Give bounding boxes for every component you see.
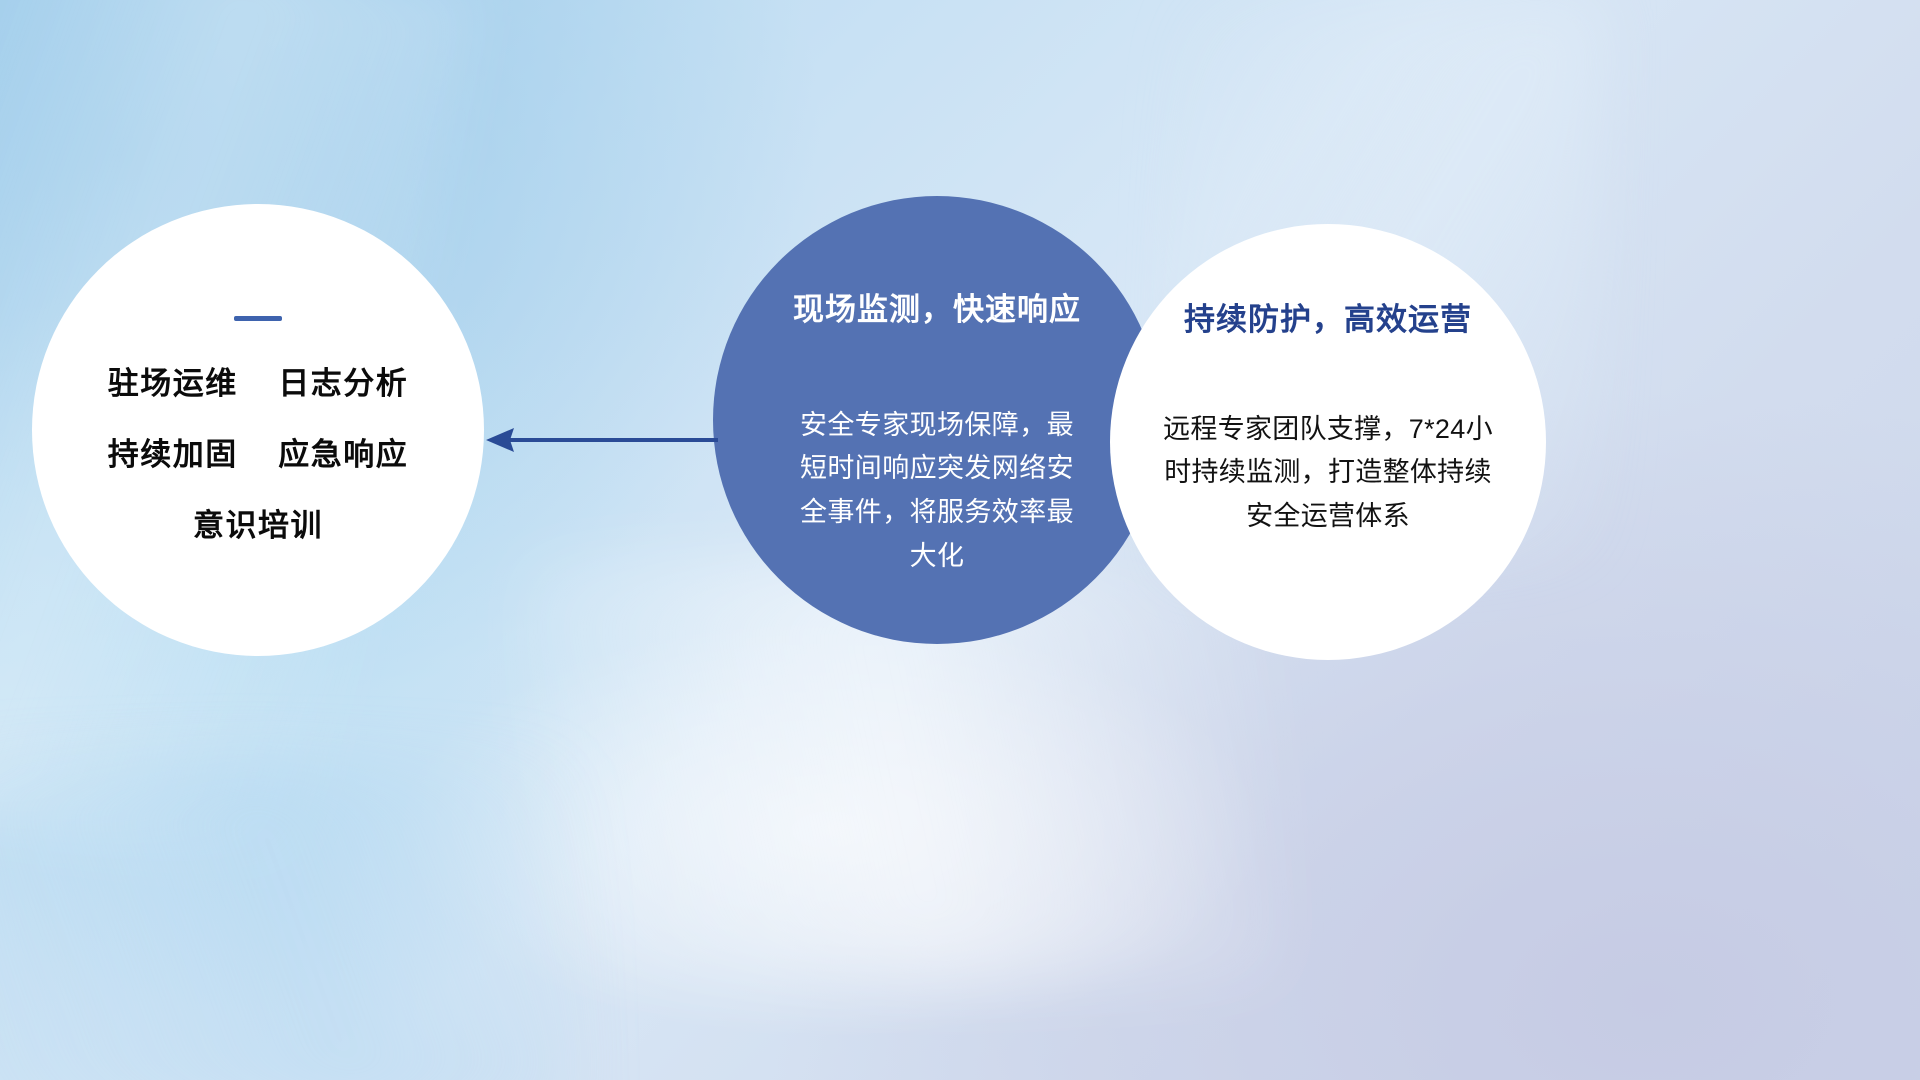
circle-continuous-protection[interactable]: 持续防护，高效运营 远程专家团队支撑，7*24小时持续监测，打造整体持续安全运营… xyxy=(1110,224,1546,660)
capability-line-3: 意识培训 xyxy=(193,510,323,541)
slide-canvas: 驻场运维 日志分析 持续加固 应急响应 意识培训 现场监测，快速响应 安全专家现… xyxy=(0,0,1920,1080)
circle-middle-title: 现场监测，快速响应 xyxy=(793,292,1081,328)
circle-right-body: 远程专家团队支撑，7*24小时持续监测，打造整体持续安全运营体系 xyxy=(1152,408,1504,539)
background-streak-bottom-left xyxy=(0,760,580,1080)
capability-line-2: 持续加固 应急响应 xyxy=(108,439,408,470)
circle-middle-body: 安全专家现场保障，最短时间响应突发网络安全事件，将服务效率最大化 xyxy=(787,404,1087,579)
circle-onsite-capabilities[interactable]: 驻场运维 日志分析 持续加固 应急响应 意识培训 xyxy=(32,204,484,656)
capability-line-1: 驻场运维 日志分析 xyxy=(108,368,408,399)
left-arrow-icon xyxy=(480,410,720,470)
divider-dash-icon xyxy=(234,316,282,321)
circle-right-title: 持续防护，高效运营 xyxy=(1184,302,1472,338)
circle-onsite-monitoring[interactable]: 现场监测，快速响应 安全专家现场保障，最短时间响应突发网络安全事件，将服务效率最… xyxy=(713,196,1161,644)
